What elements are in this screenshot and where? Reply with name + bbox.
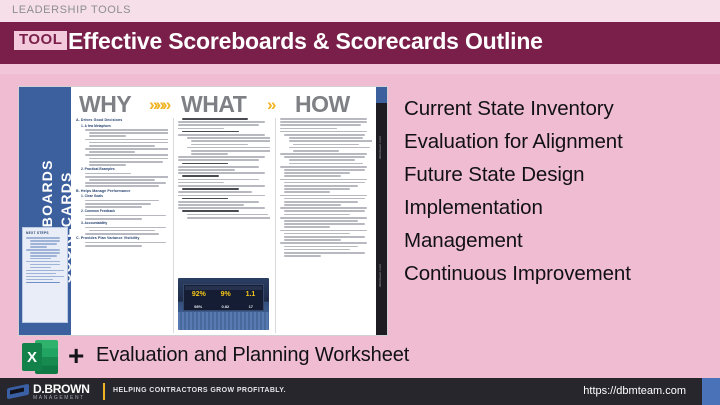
headline-what: WHAT	[181, 91, 246, 117]
next-steps-link-line[interactable]	[26, 282, 60, 284]
why-what-how-header: WHY »»» WHAT » HOW	[77, 91, 372, 117]
next-steps-box: NEXT STEPS	[22, 227, 68, 323]
text-line	[284, 191, 330, 193]
next-steps-line	[30, 240, 60, 242]
scoreboard-stat: 9%	[221, 291, 231, 299]
outline-item[interactable]: Management	[404, 224, 709, 257]
text-line	[187, 137, 270, 139]
text-line	[284, 175, 341, 177]
text-line	[289, 159, 355, 161]
text-line	[89, 158, 168, 160]
text-line	[284, 172, 350, 174]
text-line	[284, 198, 365, 200]
next-steps-line	[26, 261, 60, 263]
text-line	[284, 252, 365, 254]
next-steps-line	[26, 237, 60, 239]
next-steps-line	[30, 243, 57, 245]
next-steps-line	[30, 264, 60, 266]
headline-why: WHY	[79, 91, 131, 117]
tool-badge: TOOL	[14, 31, 67, 50]
text-line	[284, 156, 365, 158]
text-line	[284, 201, 358, 203]
text-line	[85, 176, 168, 178]
scoreboard-panel: 92% 9% 1.1 98% 0.82 17	[183, 284, 263, 311]
text-line	[85, 182, 166, 184]
scoreboard-substat: 17	[249, 304, 253, 309]
next-steps-title: NEXT STEPS	[26, 231, 64, 235]
why-column: A. Drives Good Decisions 1. A few Metaph…	[76, 118, 168, 333]
text-line	[284, 220, 358, 222]
headline-how: HOW	[295, 91, 350, 117]
worksheet-row: X + Evaluation and Planning Worksheet	[0, 336, 720, 378]
text-line	[284, 223, 365, 225]
eyebrow-strip: LEADERSHIP TOOLS	[0, 0, 720, 22]
what-column: 92% 9% 1.1 98% 0.82 17	[173, 118, 270, 333]
how-column	[275, 118, 372, 333]
outline-item[interactable]: Future State Design	[404, 158, 709, 191]
text-line	[280, 179, 367, 181]
text-line-highlighted	[182, 131, 239, 133]
text-line	[89, 164, 126, 166]
text-line	[284, 188, 350, 190]
next-steps-line	[30, 258, 51, 260]
text-line	[85, 218, 142, 220]
text-line	[289, 137, 363, 139]
text-line	[284, 210, 365, 212]
excel-icon-letter: X	[22, 343, 42, 371]
scoreboard-secondary-stats: 98% 0.82 17	[184, 303, 262, 310]
text-line	[89, 142, 168, 144]
text-line	[85, 242, 166, 244]
text-line	[284, 134, 365, 136]
text-line	[293, 144, 359, 146]
text-line	[280, 131, 367, 133]
title-underband	[0, 64, 720, 74]
text-line	[85, 200, 159, 202]
plus-icon: +	[68, 342, 84, 370]
text-line	[284, 185, 358, 187]
text-line	[284, 233, 350, 235]
text-line	[85, 173, 131, 175]
outline-item[interactable]: Current State Inventory	[404, 92, 709, 125]
text-line	[178, 204, 244, 206]
scoreboard-substat: 98%	[194, 304, 202, 309]
text-line	[85, 154, 168, 156]
text-line	[178, 159, 259, 161]
text-line	[178, 172, 265, 174]
footer-bar: D.BROWN MANAGEMENT HELPING CONTRACTORS G…	[0, 378, 720, 405]
text-line-highlighted	[182, 118, 248, 120]
next-steps-line	[30, 267, 51, 269]
text-line	[89, 230, 155, 232]
text-line	[89, 145, 155, 147]
text-line	[85, 139, 168, 141]
text-line	[85, 185, 159, 187]
column-subheading: 1. A few Metaphors	[81, 124, 168, 128]
text-line	[284, 239, 341, 241]
stadium-seating	[178, 312, 269, 330]
next-steps-line	[30, 246, 47, 248]
text-line	[280, 207, 367, 209]
next-steps-line	[30, 255, 57, 257]
text-line	[178, 201, 259, 203]
column-subheading: 2. Practical Examples	[81, 167, 168, 171]
column-subheading: 1. Clear Goals	[81, 194, 168, 198]
footer-tagline: HELPING CONTRACTORS GROW PROFITABLY.	[113, 387, 286, 395]
text-line	[191, 140, 270, 142]
document-right-band: dbmteam.com dbmteam.com	[376, 87, 387, 335]
text-line	[89, 179, 155, 181]
scoreboard-primary-stats: 92% 9% 1.1	[184, 290, 262, 301]
text-line	[178, 166, 259, 168]
text-line	[178, 195, 265, 197]
text-line	[178, 182, 224, 184]
text-line	[284, 226, 330, 228]
next-steps-line	[26, 249, 60, 251]
text-line	[284, 246, 358, 248]
text-line	[89, 151, 135, 153]
text-line	[85, 215, 166, 217]
text-line	[178, 185, 265, 187]
text-line	[289, 163, 363, 165]
text-line	[178, 128, 224, 130]
eyebrow-label: LEADERSHIP TOOLS	[12, 4, 131, 16]
text-line	[85, 233, 159, 235]
outline-list: Current State Inventory Evaluation for A…	[404, 92, 709, 290]
text-line-highlighted	[182, 163, 228, 165]
text-line	[280, 195, 367, 197]
document-side-rail: SCOREBOARDS SCORECARDS NEXT STEPS	[19, 87, 71, 335]
scoreboard-substat: 0.82	[221, 304, 229, 309]
worksheet-label: Evaluation and Planning Worksheet	[96, 344, 409, 367]
text-line	[191, 150, 270, 152]
text-line	[280, 166, 367, 168]
footer-url[interactable]: https://dbmteam.com	[583, 385, 686, 397]
text-line	[280, 128, 337, 130]
text-line	[178, 169, 235, 171]
text-line	[187, 217, 270, 219]
slide-body: SCOREBOARDS SCORECARDS NEXT STEPS	[0, 74, 720, 378]
text-line	[191, 153, 228, 155]
chevron-icon: »»»	[149, 94, 168, 116]
text-line	[85, 206, 142, 208]
text-line	[178, 191, 252, 193]
text-line	[293, 150, 339, 152]
text-line	[191, 144, 248, 146]
document-corner-tab	[376, 87, 387, 103]
column-heading: C. Provides Plan Variance Visibility	[76, 236, 168, 240]
excel-icon[interactable]: X	[22, 340, 58, 374]
text-line	[85, 227, 166, 229]
text-line	[178, 124, 259, 126]
text-line	[284, 236, 365, 238]
text-line	[85, 129, 168, 131]
text-line	[280, 242, 367, 244]
text-line	[187, 214, 268, 216]
document-edge-label: dbmteam.com	[378, 264, 382, 287]
text-line	[284, 182, 365, 184]
text-line	[89, 135, 126, 137]
document-edge-label: dbmteam.com	[378, 136, 382, 159]
text-line	[280, 230, 367, 232]
text-line	[85, 148, 168, 150]
footer-divider	[103, 383, 105, 400]
scoreboard-photo: 92% 9% 1.1 98% 0.82 17	[178, 278, 269, 330]
scoreboard-stat: 92%	[192, 291, 206, 299]
text-line	[85, 203, 151, 205]
document-content: WHY »»» WHAT » HOW A. Drives Good Decisi…	[71, 87, 376, 335]
text-line	[89, 161, 163, 163]
column-heading: A. Drives Good Decisions	[76, 118, 168, 122]
page-title: Effective Scoreboards & Scorecards Outli…	[68, 28, 543, 55]
text-line	[178, 121, 265, 123]
outline-item[interactable]: Evaluation for Alignment	[404, 125, 709, 158]
chevron-icon: »	[267, 94, 273, 116]
text-line	[178, 179, 259, 181]
text-line	[289, 140, 372, 142]
text-line	[280, 217, 367, 219]
column-subheading: 3. Accountability	[81, 221, 168, 225]
text-line	[85, 245, 142, 247]
text-line	[89, 132, 168, 134]
footer-accent-chip	[702, 378, 720, 405]
text-line-highlighted	[182, 210, 239, 212]
text-line	[284, 204, 341, 206]
text-line	[284, 249, 350, 251]
text-line	[280, 121, 367, 123]
text-line	[284, 169, 365, 171]
document-columns: A. Drives Good Decisions 1. A few Metaph…	[76, 118, 372, 333]
outline-item[interactable]: Continuous Improvement	[404, 257, 709, 290]
text-line-highlighted	[182, 175, 219, 177]
scoreboard-stat: 1.1	[246, 291, 256, 299]
text-line	[284, 255, 321, 257]
text-line	[178, 134, 265, 136]
text-line	[178, 207, 265, 209]
next-steps-line	[26, 273, 56, 275]
dbrown-logo-icon	[7, 383, 29, 400]
text-line	[289, 147, 370, 149]
text-line-highlighted	[182, 188, 239, 190]
outline-item[interactable]: Implementation	[404, 191, 709, 224]
text-line	[284, 214, 350, 216]
next-steps-line	[30, 252, 60, 254]
document-preview[interactable]: SCOREBOARDS SCORECARDS NEXT STEPS	[18, 86, 388, 336]
text-line	[280, 153, 367, 155]
brand-name: D.BROWN	[33, 383, 90, 395]
text-line	[187, 147, 270, 149]
text-line	[280, 124, 361, 126]
next-steps-line	[26, 270, 64, 272]
column-subheading: 2. Common Feedback	[81, 209, 168, 213]
column-heading: B. Helps Manage Performance	[76, 189, 168, 193]
next-steps-line	[26, 279, 53, 281]
text-line	[178, 156, 265, 158]
text-line	[280, 118, 367, 120]
text-line-highlighted	[182, 198, 228, 200]
brand-subtitle: MANAGEMENT	[33, 395, 85, 401]
next-steps-line	[26, 276, 64, 278]
